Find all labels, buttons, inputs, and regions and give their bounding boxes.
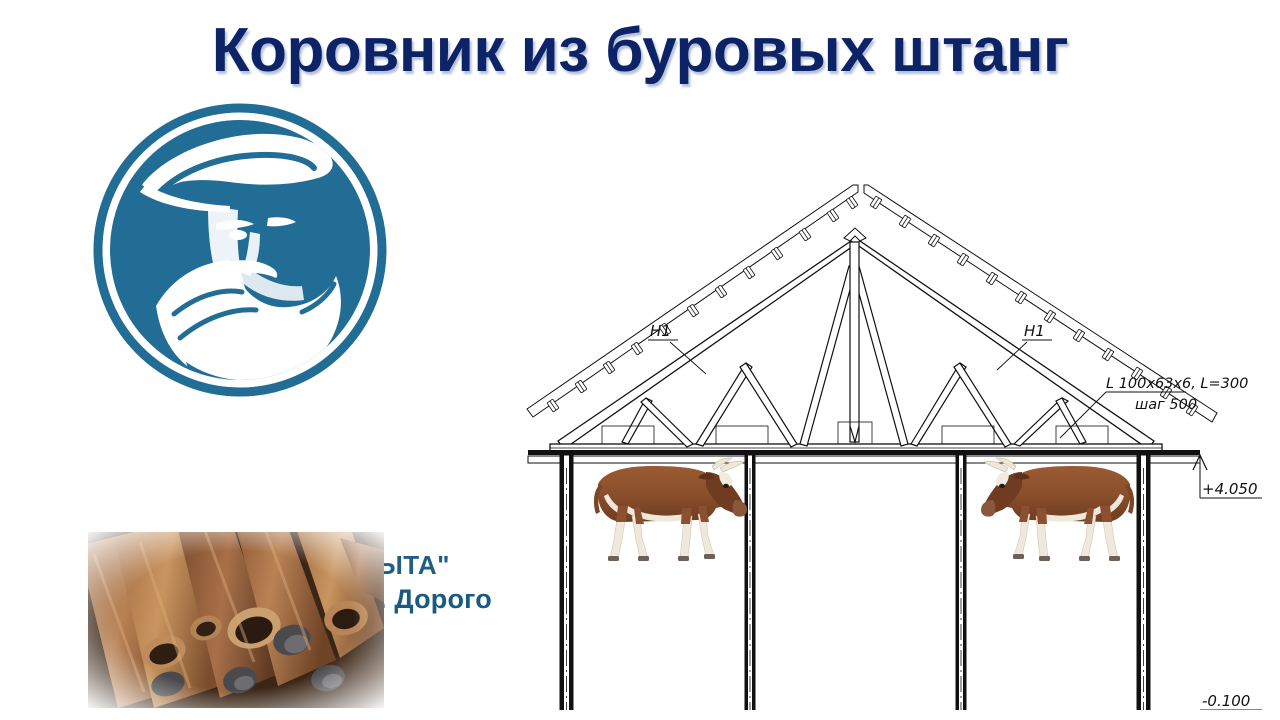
level-mark-plus: +4.050 [1193,455,1262,498]
page-title: Коровник из буровых штанг [0,16,1280,86]
label-angle-spec-2: шаг 500 [1135,397,1197,413]
cowshed-cross-section: H1 H1 L 100x63x6, L=300 шаг 500 +4.050 [500,150,1280,710]
cow-left [580,442,750,564]
level-mark-minus: -0.100 [1193,692,1264,710]
ridge-cap [844,228,866,241]
column-axis-v [949,455,973,710]
level-value-ground: -0.100 [1202,692,1250,710]
label-h1-left: H1 [650,322,671,340]
truss-webs [622,242,1086,447]
company-logo-block: ООО "РОГА И КОПЫТА" Осваиваем бюджеты. Д… [62,100,462,450]
cow-right [978,442,1148,564]
label-angle-spec-1: L 100x63x6, L=300 [1106,376,1248,392]
drill-rods-pile-photo [88,532,384,708]
label-h1-right: H1 [1024,322,1045,340]
poster-canvas: Коровник из буровых штанг [0,0,1280,720]
man-in-cap-portrait-emblem [90,100,390,400]
purlin-clips-left [547,196,858,412]
cowshed-section-vector: H1 H1 L 100x63x6, L=300 шаг 500 +4.050 [500,150,1280,710]
level-value-top: +4.050 [1202,480,1258,498]
